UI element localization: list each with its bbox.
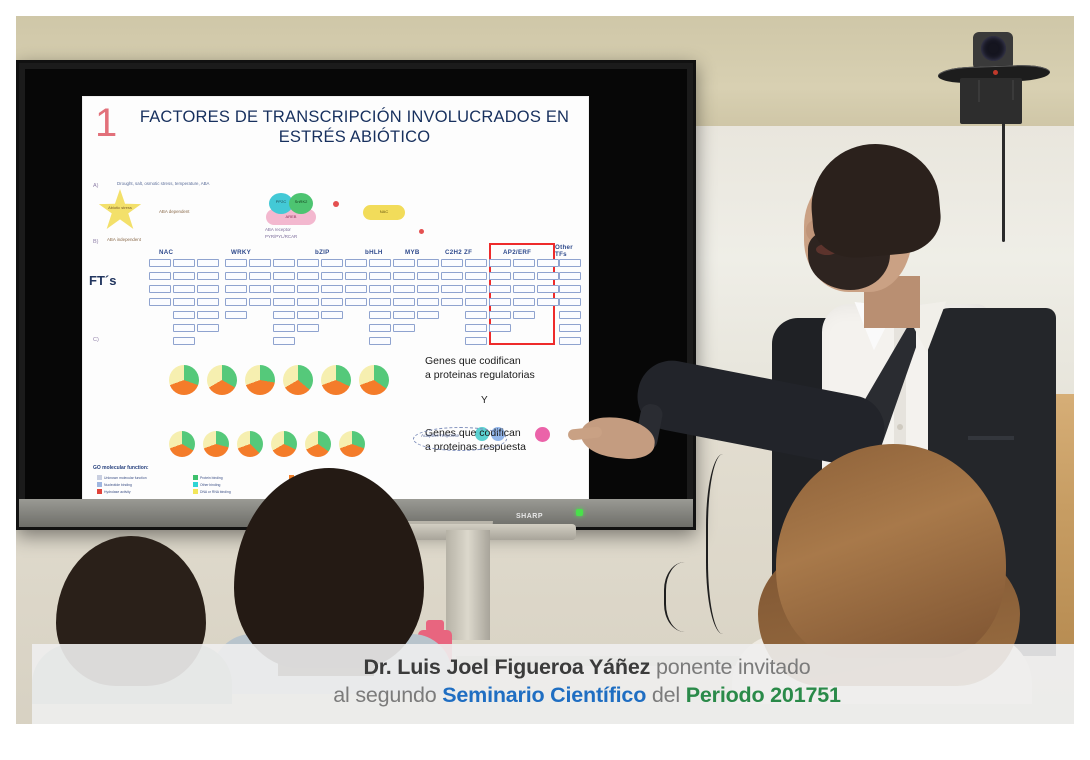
abiotic-stress-label: Abiotic stress [103, 205, 137, 210]
gene-box [173, 337, 195, 345]
gene-box [297, 272, 319, 280]
pie-chart [359, 365, 389, 395]
gene-box [173, 272, 195, 280]
pie-chart [169, 431, 195, 457]
gene-box [393, 285, 415, 293]
gene-box [197, 259, 219, 267]
gene-box [513, 272, 535, 280]
gene-box [417, 272, 439, 280]
gene-box [393, 272, 415, 280]
gene-box [417, 285, 439, 293]
panel-a-label: A) [93, 183, 99, 189]
gene-box [513, 259, 535, 267]
legend-title: GO molecular function: [93, 465, 149, 471]
gene-box [537, 259, 559, 267]
gene-box [173, 311, 195, 319]
panel-c-label: C) [93, 337, 99, 343]
speaker-role: ponente invitado [650, 655, 810, 679]
caption-line-1: Dr. Luis Joel Figueroa Yáñez ponente inv… [192, 654, 982, 682]
gene-box [225, 298, 247, 306]
gene-box [489, 259, 511, 267]
gene-box [345, 298, 367, 306]
gene-box [489, 285, 511, 293]
gene-box [321, 311, 343, 319]
aba-dependent-label: ABA dependent [159, 209, 190, 214]
pie-chart [271, 431, 297, 457]
caption-text: Dr. Luis Joel Figueroa Yáñez ponente inv… [192, 654, 982, 709]
gene-box [393, 311, 415, 319]
legend-swatch [97, 482, 102, 487]
gene-box [297, 311, 319, 319]
gene-box [441, 298, 463, 306]
jacket-pocket [968, 436, 1014, 440]
gene-box [149, 272, 171, 280]
gene-box [465, 285, 487, 293]
ft-label: FT´s [89, 273, 116, 288]
photo-frame: 1 FACTORES DE TRANSCRIPCIÓN INVOLUCRADOS… [0, 0, 1090, 760]
gene-box [369, 311, 391, 319]
gene-box [321, 259, 343, 267]
legend-swatch [97, 489, 102, 494]
gene-box [369, 272, 391, 280]
gene-box [393, 324, 415, 332]
gene-box [489, 298, 511, 306]
gene-box [369, 298, 391, 306]
gene-box [369, 324, 391, 332]
event-prefix: al segundo [333, 683, 442, 707]
gene-box [173, 324, 195, 332]
gene-box [173, 298, 195, 306]
panel-b-label: B) [93, 239, 99, 245]
tf-family-wrky: WRKY [231, 249, 251, 256]
legend-swatch [97, 475, 102, 480]
pie-chart [321, 365, 351, 395]
camera-bracket-leg [1012, 80, 1014, 100]
caption-line-2: al segundo Seminario Científico del Peri… [192, 682, 982, 710]
gene-box [173, 285, 195, 293]
gene-box [197, 324, 219, 332]
marker-dot [333, 201, 339, 207]
stimulus-text: Drought, salt, osmotic stress, temperatu… [117, 181, 209, 186]
aba-independent-label: ABA independent [107, 237, 141, 242]
areb-label: AREB [266, 214, 316, 219]
gene-box [249, 285, 271, 293]
pie-chart [169, 365, 199, 395]
gene-box [417, 298, 439, 306]
gene-box [489, 272, 511, 280]
camera-bracket-leg [978, 80, 980, 102]
tf-family-nac: NAC [159, 249, 173, 256]
annotation-regulatory-l1: Genes que codifican [425, 355, 521, 368]
gene-box [513, 298, 535, 306]
display-stand-neck [446, 530, 490, 640]
gene-box [369, 285, 391, 293]
gene-box [173, 259, 195, 267]
gene-box [489, 311, 511, 319]
tf-family-bhlh: bHLH [365, 249, 383, 256]
gene-box [273, 337, 295, 345]
gene-box [273, 324, 295, 332]
pie-chart [305, 431, 331, 457]
gene-box [489, 324, 511, 332]
gene-box [225, 272, 247, 280]
camera-lens-icon [981, 36, 1006, 61]
gene-box [465, 259, 487, 267]
aba-receptor-note: ABA receptor [265, 227, 291, 232]
gene-box [465, 311, 487, 319]
gene-box [225, 259, 247, 267]
legend-label: Nucleotide binding [104, 483, 132, 487]
tf-family-myb: MYB [405, 249, 420, 256]
annotation-regulatory-l2: a proteinas regulatorias [425, 369, 535, 382]
legend-swatch [193, 475, 198, 480]
gene-box [465, 298, 487, 306]
adaptive-response-label: Adaptive response [421, 433, 459, 438]
presentation-slide: 1 FACTORES DE TRANSCRIPCIÓN INVOLUCRADOS… [83, 97, 588, 517]
gene-box [197, 298, 219, 306]
slide-number: 1 [95, 103, 117, 143]
pie-chart [245, 365, 275, 395]
gene-box [345, 285, 367, 293]
gene-box [149, 298, 171, 306]
pie-chart [207, 365, 237, 395]
gene-box [273, 311, 295, 319]
gene-box [321, 272, 343, 280]
gene-box [537, 285, 559, 293]
event-mid: del [646, 683, 686, 707]
hair [806, 139, 943, 262]
gene-box [225, 311, 247, 319]
legend-label: Protein binding [200, 476, 223, 480]
gene-box [441, 272, 463, 280]
response-gene-circle [535, 427, 550, 442]
gene-box [441, 285, 463, 293]
camera-status-dot [993, 70, 998, 75]
gene-box [225, 285, 247, 293]
pie-chart [203, 431, 229, 457]
snrk2-label: SnRK2 [289, 199, 313, 204]
speaker-name: Dr. Luis Joel Figueroa Yáñez [363, 655, 650, 679]
gene-box [465, 337, 487, 345]
gene-box [345, 272, 367, 280]
legend-swatch [193, 482, 198, 487]
gene-box [465, 324, 487, 332]
gene-box [249, 298, 271, 306]
gene-box [513, 311, 535, 319]
gene-box [321, 285, 343, 293]
legend-label: Unknown molecular function [104, 476, 147, 480]
abiotic-stress-star-icon [97, 189, 143, 235]
gene-box [441, 259, 463, 267]
gene-box [273, 285, 295, 293]
tf-family-bzip: bZIP [315, 249, 330, 256]
seminar-photo: 1 FACTORES DE TRANSCRIPCIÓN INVOLUCRADOS… [16, 16, 1074, 724]
sharp-brand-label: SHARP [516, 513, 543, 520]
gene-box [149, 259, 171, 267]
gene-box [197, 311, 219, 319]
event-period: Periodo 201751 [686, 683, 841, 707]
arrow-glyph: Y [481, 395, 488, 406]
legend-swatch [193, 489, 198, 494]
gene-box [369, 337, 391, 345]
nac-label: NAC [363, 209, 405, 214]
adaptive-response-ellipse [413, 427, 507, 451]
legend-label: Hydrolase activity [104, 490, 131, 494]
pie-chart [339, 431, 365, 457]
gene-box [537, 298, 559, 306]
gene-box [417, 259, 439, 267]
gene-box [537, 272, 559, 280]
gene-box [393, 259, 415, 267]
gene-box [249, 259, 271, 267]
gene-box [465, 272, 487, 280]
legend-label: Other binding [200, 483, 220, 487]
gene-box [297, 259, 319, 267]
gene-box [297, 298, 319, 306]
gene-box [273, 272, 295, 280]
gene-box [369, 259, 391, 267]
slide-title: FACTORES DE TRANSCRIPCIÓN INVOLUCRADOS E… [129, 107, 580, 147]
gene-box [149, 285, 171, 293]
gene-box [197, 272, 219, 280]
shirt-button [897, 424, 903, 430]
gene-box [297, 324, 319, 332]
legend-label: DNA or RNA binding [200, 490, 231, 494]
gene-box [197, 285, 219, 293]
gene-box [513, 285, 535, 293]
marker-dot [419, 229, 424, 234]
pie-chart [237, 431, 263, 457]
event-name: Seminario Científico [442, 683, 646, 707]
gene-box [345, 259, 367, 267]
gene-box [273, 298, 295, 306]
gene-box [249, 272, 271, 280]
gene-box [417, 311, 439, 319]
gene-box [273, 259, 295, 267]
gene-box [321, 298, 343, 306]
gene-box [297, 285, 319, 293]
gene-box [393, 298, 415, 306]
pie-chart [283, 365, 313, 395]
caption-banner: Universidad Veracruzana Dr. Luis Joel Fi… [32, 644, 1074, 724]
aba-receptor-note-2: PYR/PYL/RCAR [265, 234, 297, 239]
tf-family-c2h2: C2H2 ZF [445, 249, 472, 256]
